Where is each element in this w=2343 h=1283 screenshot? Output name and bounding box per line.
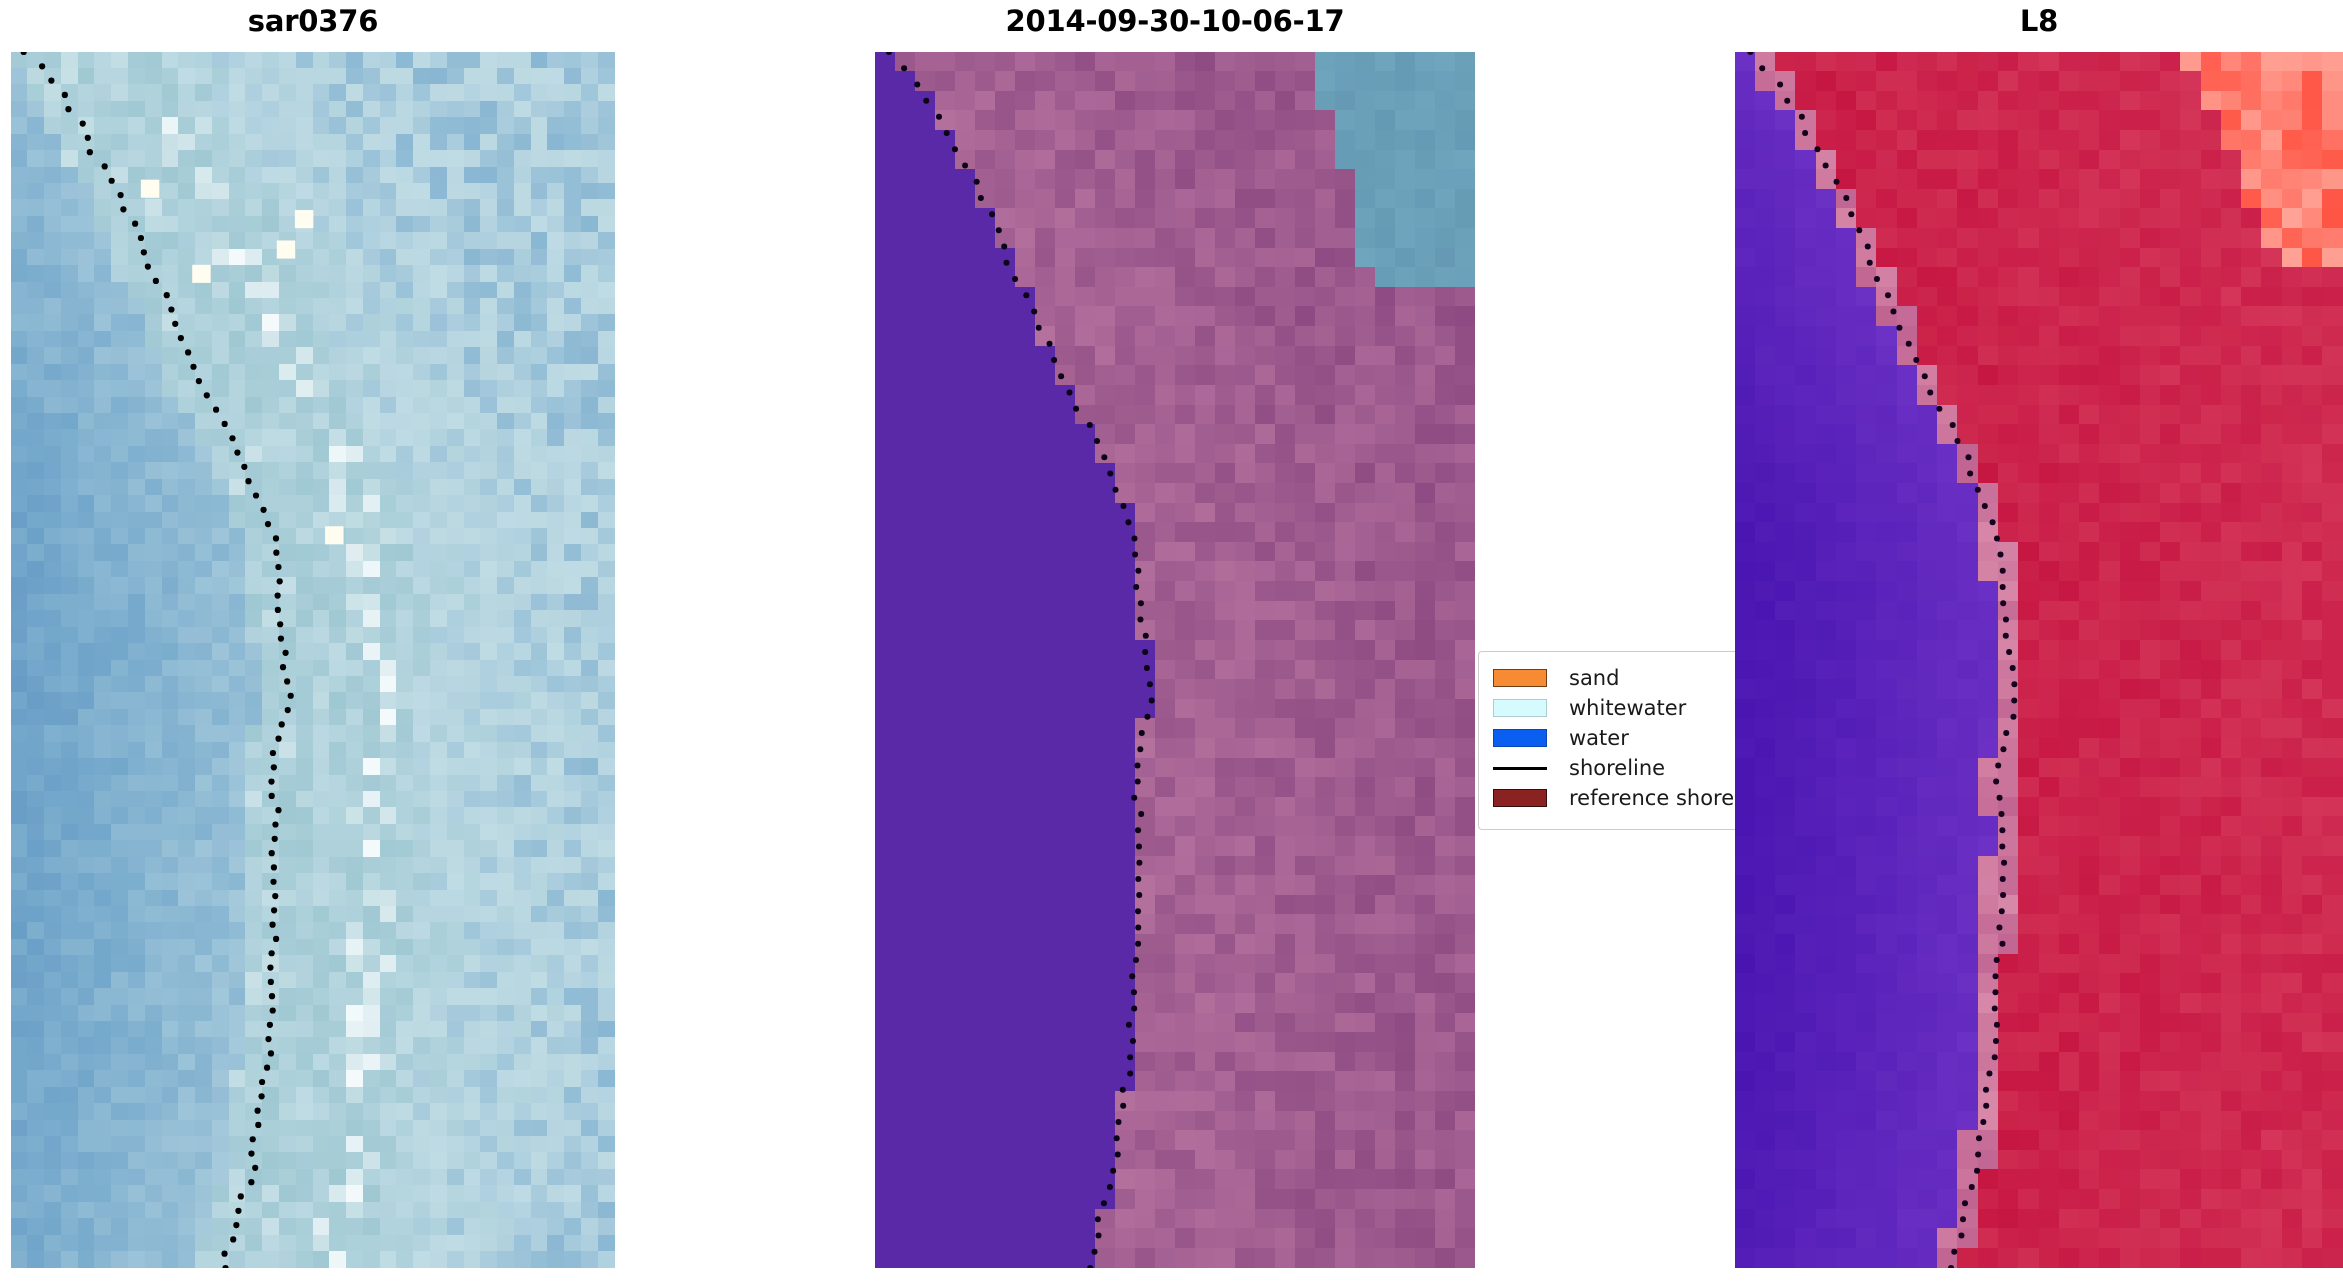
legend-item-reference-shoreline: reference shoreline	[1479, 783, 1735, 813]
panel-image-l8	[1735, 52, 2343, 1268]
panel-sar0376: sar0376	[11, 0, 615, 1283]
legend-item-water: water	[1479, 723, 1735, 753]
panel-image-classified	[875, 52, 1475, 1268]
classified-image-canvas	[875, 52, 1475, 1268]
legend-label-shoreline: shoreline	[1569, 758, 1665, 779]
legend-item-sand: sand	[1479, 663, 1735, 693]
legend-item-whitewater: whitewater	[1479, 693, 1735, 723]
reference-shoreline-swatch-icon	[1493, 789, 1547, 807]
l8-image-canvas	[1735, 52, 2343, 1268]
sand-swatch-icon	[1493, 669, 1547, 687]
panel-title-sar: sar0376	[11, 4, 615, 38]
figure-canvas: sar0376 2014-09-30-10-06-17 sand whitewa…	[0, 0, 2343, 1283]
panel-title-l8: L8	[1735, 4, 2343, 38]
legend: sand whitewater water shoreline referenc…	[1478, 651, 1735, 830]
panel-title-date: 2014-09-30-10-06-17	[875, 4, 1475, 38]
water-swatch-icon	[1493, 729, 1547, 747]
legend-label-whitewater: whitewater	[1569, 698, 1686, 719]
legend-label-reference-shoreline: reference shoreline	[1569, 788, 1735, 809]
whitewater-swatch-icon	[1493, 699, 1547, 717]
legend-inner: sand whitewater water shoreline referenc…	[1478, 651, 1735, 830]
panel-image-sar	[11, 52, 615, 1268]
sar-image-canvas	[11, 52, 615, 1268]
panel-l8: L8	[1735, 0, 2343, 1283]
shoreline-line-icon	[1493, 759, 1547, 777]
legend-label-sand: sand	[1569, 668, 1619, 689]
legend-item-shoreline: shoreline	[1479, 753, 1735, 783]
legend-label-water: water	[1569, 728, 1629, 749]
panel-classified: 2014-09-30-10-06-17	[875, 0, 1475, 1283]
